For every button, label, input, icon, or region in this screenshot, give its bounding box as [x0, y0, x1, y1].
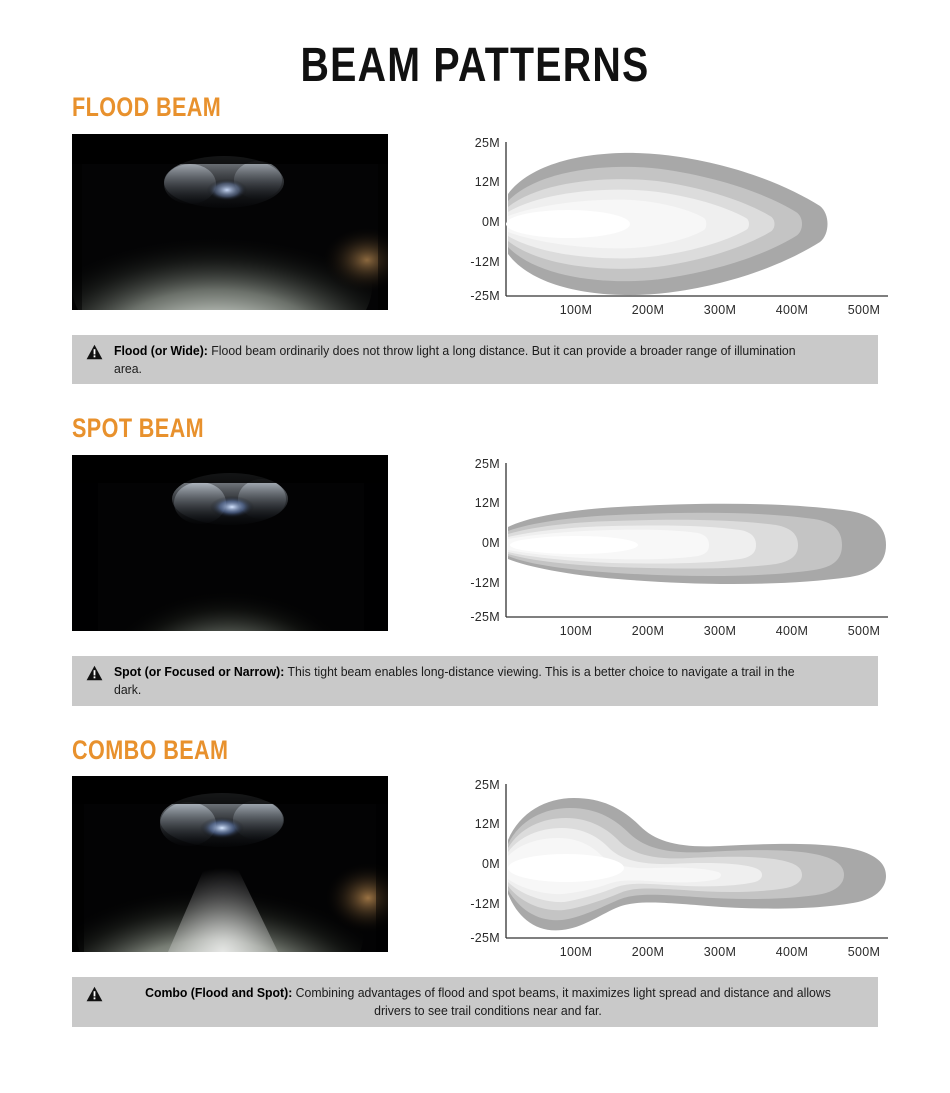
flood-beam-chart-svg: 25M 12M 0M -12M -25M 100M 200M 300M 400M…	[458, 134, 898, 319]
warning-triangle-icon	[86, 986, 103, 1002]
spot-beam-photo-canvas	[72, 455, 388, 631]
caption-bar-combo: Combo (Flood and Spot): Combining advant…	[72, 977, 878, 1027]
combo-beam-chart-svg: 25M 12M 0M -12M -25M 100M 200M 300M 400M…	[458, 776, 898, 961]
x-tick-label: 400M	[776, 624, 808, 638]
section-body-flood: 25M 12M 0M -12M -25M 100M 200M 300M 400M…	[0, 134, 950, 319]
y-tick-label: -25M	[470, 931, 500, 945]
x-tick-label: 100M	[560, 303, 592, 317]
y-tick-label: 12M	[475, 817, 500, 831]
flood-beam-photo-canvas	[72, 134, 388, 310]
beam-hotspot-core	[508, 858, 580, 878]
x-tick-label: 300M	[704, 624, 736, 638]
caption-body-flood: Flood beam ordinarily does not throw lig…	[114, 343, 796, 376]
section-combo: COMBO BEAM	[0, 736, 950, 1027]
y-tick-label: -12M	[470, 576, 500, 590]
spot-beam-photo	[72, 455, 388, 631]
caption-text-flood: Flood (or Wide): Flood beam ordinarily d…	[114, 342, 810, 378]
x-tick-label: 500M	[848, 303, 880, 317]
beam-hotspot-core	[506, 214, 586, 234]
caption-bar-spot: Spot (or Focused or Narrow): This tight …	[72, 656, 878, 706]
x-tick-label: 500M	[848, 624, 880, 638]
spot-beam-bands	[508, 504, 886, 584]
spot-beam-chart: 25M 12M 0M -12M -25M 100M 200M 300M 400M…	[458, 455, 898, 640]
x-tick-label: 400M	[776, 303, 808, 317]
section-flood: FLOOD BEAM	[0, 93, 950, 384]
x-tick-label: 300M	[704, 303, 736, 317]
section-body-spot: 25M 12M 0M -12M -25M 100M 200M 300M 400M…	[0, 455, 950, 640]
x-tick-label: 300M	[704, 945, 736, 959]
warning-triangle-icon	[86, 665, 103, 681]
flood-beam-photo	[72, 134, 388, 310]
y-tick-label: 25M	[475, 136, 500, 150]
section-body-combo: 25M 12M 0M -12M -25M 100M 200M 300M 400M…	[0, 776, 950, 961]
flood-beam-bands	[506, 153, 828, 295]
page-title: BEAM PATTERNS	[86, 0, 865, 93]
caption-label-flood: Flood (or Wide):	[114, 343, 208, 358]
caption-label-combo: Combo (Flood and Spot):	[145, 985, 292, 1000]
section-heading-spot: SPOT BEAM	[72, 414, 774, 444]
flood-beam-chart: 25M 12M 0M -12M -25M 100M 200M 300M 400M…	[458, 134, 898, 319]
y-tick-label: 0M	[482, 215, 500, 229]
y-tick-label: -25M	[470, 610, 500, 624]
caption-text-spot: Spot (or Focused or Narrow): This tight …	[114, 663, 810, 699]
section-heading-combo: COMBO BEAM	[72, 736, 774, 766]
combo-beam-photo	[72, 776, 388, 952]
caption-label-spot: Spot (or Focused or Narrow):	[114, 664, 284, 679]
y-tick-label: 25M	[475, 457, 500, 471]
y-tick-label: 12M	[475, 496, 500, 510]
x-tick-label: 200M	[632, 624, 664, 638]
x-tick-label: 100M	[560, 945, 592, 959]
y-tick-label: 25M	[475, 778, 500, 792]
x-tick-label: 200M	[632, 303, 664, 317]
combo-beam-photo-canvas	[72, 776, 388, 952]
caption-text-combo: Combo (Flood and Spot): Combining advant…	[140, 984, 836, 1020]
y-tick-label: -25M	[470, 289, 500, 303]
y-tick-label: 0M	[482, 536, 500, 550]
warning-triangle-icon	[86, 344, 103, 360]
y-tick-label: -12M	[470, 255, 500, 269]
spot-beam-chart-svg: 25M 12M 0M -12M -25M 100M 200M 300M 400M…	[458, 455, 898, 640]
y-tick-label: -12M	[470, 897, 500, 911]
caption-body-combo: Combining advantages of flood and spot b…	[292, 985, 831, 1018]
x-tick-label: 500M	[848, 945, 880, 959]
caption-bar-flood: Flood (or Wide): Flood beam ordinarily d…	[72, 335, 878, 385]
section-spot: SPOT BEAM	[0, 414, 950, 705]
beam-patterns-page: BEAM PATTERNS FLOOD BEAM	[0, 0, 950, 1093]
beam-hotspot-core	[510, 538, 590, 552]
x-tick-label: 400M	[776, 945, 808, 959]
x-tick-label: 100M	[560, 624, 592, 638]
y-tick-label: 0M	[482, 857, 500, 871]
x-tick-label: 200M	[632, 945, 664, 959]
y-tick-label: 12M	[475, 175, 500, 189]
combo-beam-chart: 25M 12M 0M -12M -25M 100M 200M 300M 400M…	[458, 776, 898, 961]
combo-beam-bands	[508, 798, 886, 930]
section-heading-flood: FLOOD BEAM	[72, 93, 774, 123]
